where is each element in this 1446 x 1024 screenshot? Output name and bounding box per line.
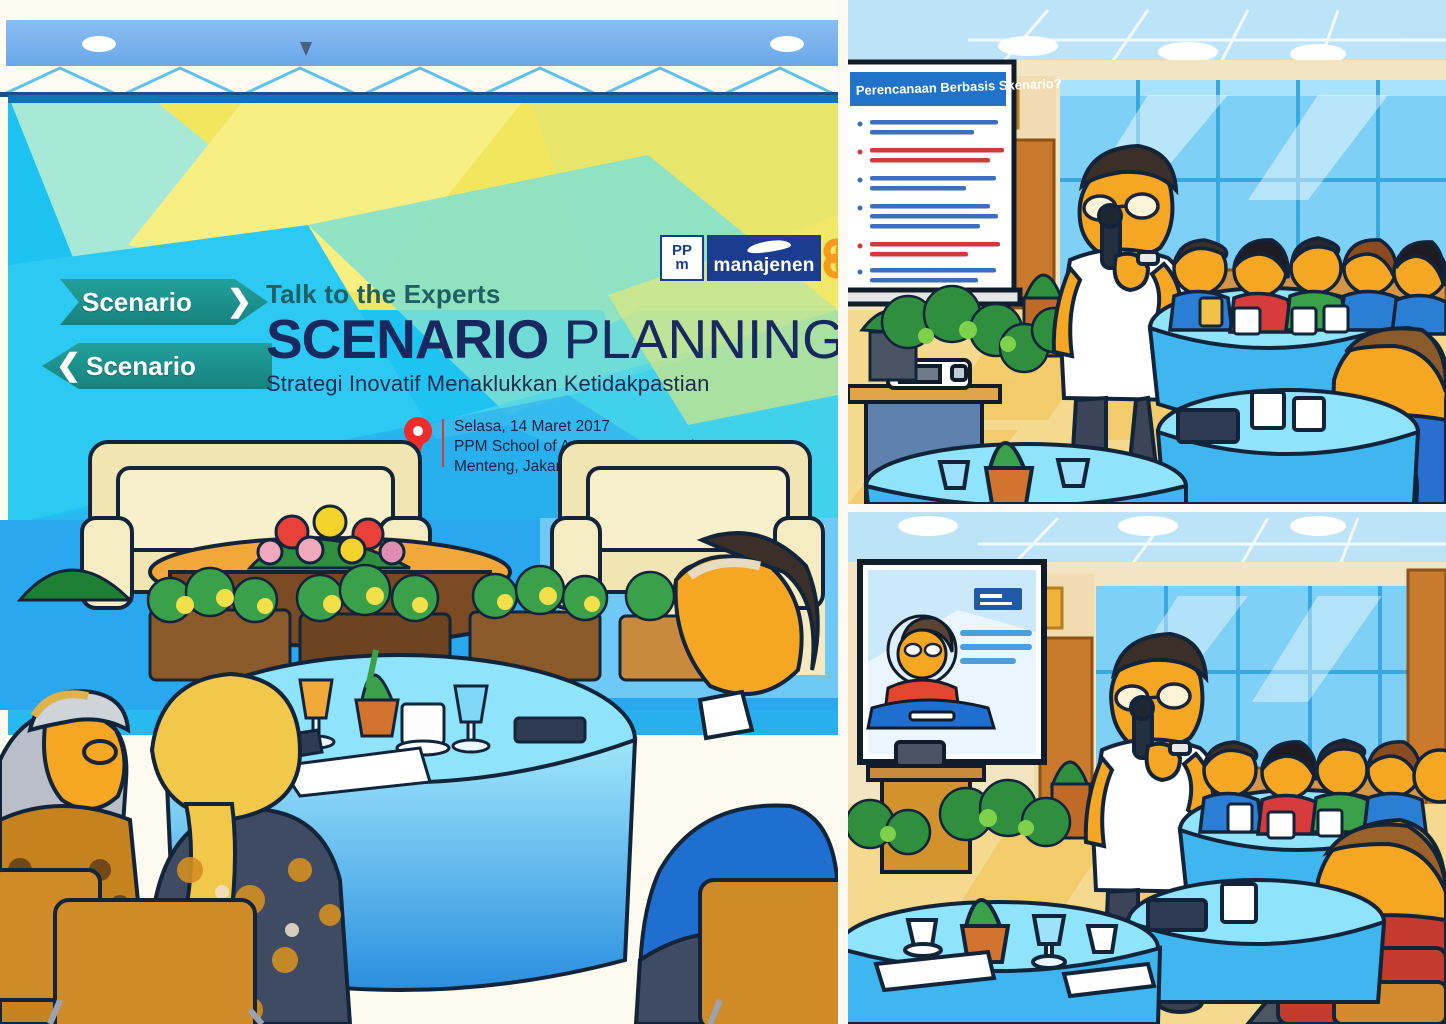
ppm-manajemen-logo: PP m manajenen (660, 235, 838, 281)
banner-title: SCENARIO PLANNING (266, 312, 806, 367)
banner-eyebrow: Talk to the Experts (266, 281, 806, 307)
ceiling-beam (6, 20, 838, 66)
room-ceiling (0, 0, 838, 96)
swoosh-icon (747, 239, 792, 255)
banner-title-block: Talk to the Experts SCENARIO PLANNING St… (266, 281, 806, 397)
banner-subtitle: Strategi Inovatif Menaklukkan Ketidakpas… (266, 371, 806, 397)
collage-canvas: Scenario ❯ ❮ Scenario PP m manajenen (0, 0, 1446, 1024)
br-scene (848, 512, 1446, 1024)
tr-scene: Perencanaan Berbasis Skenario? (848, 0, 1446, 504)
ceiling-light (770, 36, 804, 52)
infinity-icon (823, 235, 838, 281)
panel-main-event-photo: Scenario ❯ ❮ Scenario PP m manajenen (0, 0, 838, 1024)
signpost-right-label: Scenario (82, 287, 192, 318)
signpost-scenario-left: ❮ Scenario (42, 343, 272, 389)
signpost-scenario-right: Scenario ❯ (60, 279, 268, 325)
manajemen-wordmark-box: manajenen (707, 235, 821, 281)
banner-title-light: PLANNING (548, 308, 838, 370)
banner-title-bold: SCENARIO (266, 308, 548, 370)
signpost-left-label: Scenario (86, 351, 196, 382)
manajemen-wordmark: manajenen (713, 255, 814, 277)
chevron-right-icon: ❯ (227, 284, 252, 319)
ceiling-light (82, 36, 116, 52)
panel-bottom-right-presentation (848, 512, 1446, 1024)
ppm-mark-line2: m (675, 258, 688, 272)
ppm-mark-icon: PP m (660, 235, 704, 281)
stage-scene (0, 400, 838, 1024)
panel-top-right-presentation: Perencanaan Berbasis Skenario? (848, 0, 1446, 504)
